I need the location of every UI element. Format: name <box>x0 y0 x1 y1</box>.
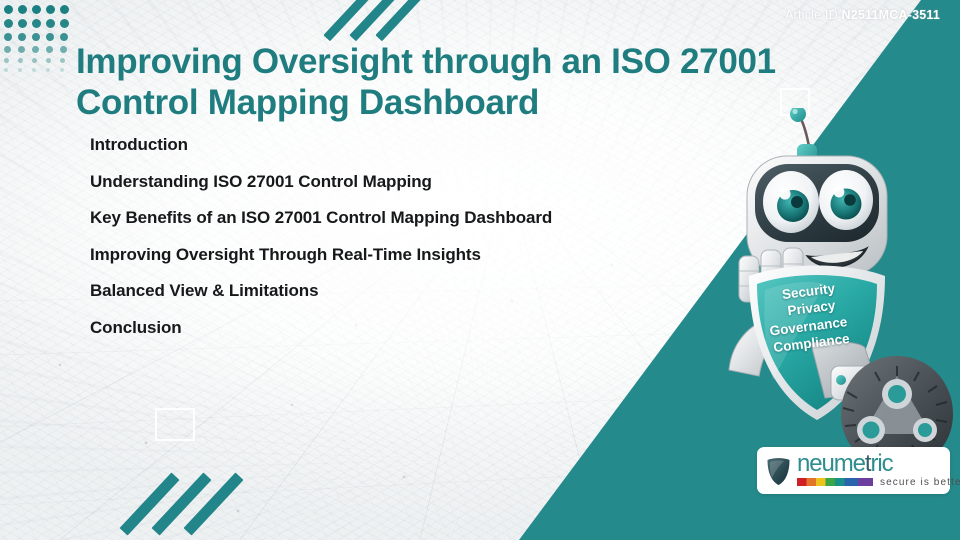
diagonal-bars-bottom <box>140 466 260 536</box>
robot-mascot-illustration <box>715 108 960 448</box>
diagonal-bar <box>375 0 421 41</box>
agenda-item-real-time-insights[interactable]: Improving Oversight Through Real-Time In… <box>90 246 710 263</box>
dot <box>32 46 39 53</box>
dot <box>4 5 13 14</box>
article-id-label: Article ID <box>785 8 838 22</box>
dot <box>18 46 25 53</box>
agenda-item-conclusion[interactable]: Conclusion <box>90 319 710 336</box>
robot-eye-right <box>819 170 873 230</box>
dot-row <box>4 33 74 46</box>
dot-row <box>4 68 74 77</box>
dot <box>46 33 54 41</box>
logo-wordmark-part2: ric <box>870 450 892 477</box>
logo-wordmark: neumetric <box>797 453 960 475</box>
agenda-item-understanding-control-mapping[interactable]: Understanding ISO 27001 Control Mapping <box>90 173 710 190</box>
dot <box>60 68 64 72</box>
logo-subline: secure is better <box>797 477 960 488</box>
dot <box>60 33 68 41</box>
article-id: Article ID N2511MCA-3511 <box>785 8 940 22</box>
dot <box>60 46 67 53</box>
dot-grid-decoration <box>4 5 74 77</box>
dot <box>4 33 12 41</box>
dot <box>46 5 55 14</box>
robot-eye-left <box>763 171 819 233</box>
dot <box>32 19 41 28</box>
dot <box>4 58 9 63</box>
ghost-square-outline-bottom <box>155 408 195 441</box>
dot <box>32 5 41 14</box>
dot <box>18 5 27 14</box>
dot <box>32 33 40 41</box>
dot <box>60 19 69 28</box>
dot-row <box>4 58 74 68</box>
dot <box>46 46 53 53</box>
dot <box>32 58 37 63</box>
dot-row <box>4 5 74 19</box>
diagonal-bar <box>349 0 395 41</box>
rainbow-bar-icon <box>797 478 873 486</box>
shield-logo-icon <box>766 456 791 486</box>
dot <box>32 68 36 72</box>
agenda-item-balanced-view-limitations[interactable]: Balanced View & Limitations <box>90 282 710 299</box>
dot <box>18 19 27 28</box>
logo-text-block: neumetric secure is better <box>797 453 960 487</box>
dot <box>46 68 50 72</box>
dot <box>18 58 23 63</box>
dot <box>4 19 13 28</box>
dot <box>60 58 65 63</box>
diagonal-bar <box>323 0 369 41</box>
neumetric-logo[interactable]: neumetric secure is better <box>757 447 950 494</box>
agenda-list: Introduction Understanding ISO 27001 Con… <box>90 136 710 355</box>
dot-row <box>4 46 74 58</box>
diagonal-bar <box>152 472 212 535</box>
diagonal-bar <box>184 472 244 535</box>
dot <box>18 33 26 41</box>
agenda-item-key-benefits[interactable]: Key Benefits of an ISO 27001 Control Map… <box>90 209 710 226</box>
diagonal-bar <box>120 472 180 535</box>
agenda-item-introduction[interactable]: Introduction <box>90 136 710 153</box>
dot <box>60 5 69 14</box>
diagonal-bars-top <box>334 0 454 44</box>
presentation-slide: Article ID N2511MCA-3511 Improving Overs… <box>0 0 960 540</box>
dot <box>4 68 8 72</box>
logo-wordmark-part1: neume <box>797 450 865 477</box>
dot <box>46 58 51 63</box>
dot <box>18 68 22 72</box>
article-id-value: N2511MCA-3511 <box>842 8 941 22</box>
dot <box>4 46 11 53</box>
dot <box>46 19 55 28</box>
logo-tagline: secure is better <box>880 477 960 488</box>
dot-row <box>4 19 74 33</box>
